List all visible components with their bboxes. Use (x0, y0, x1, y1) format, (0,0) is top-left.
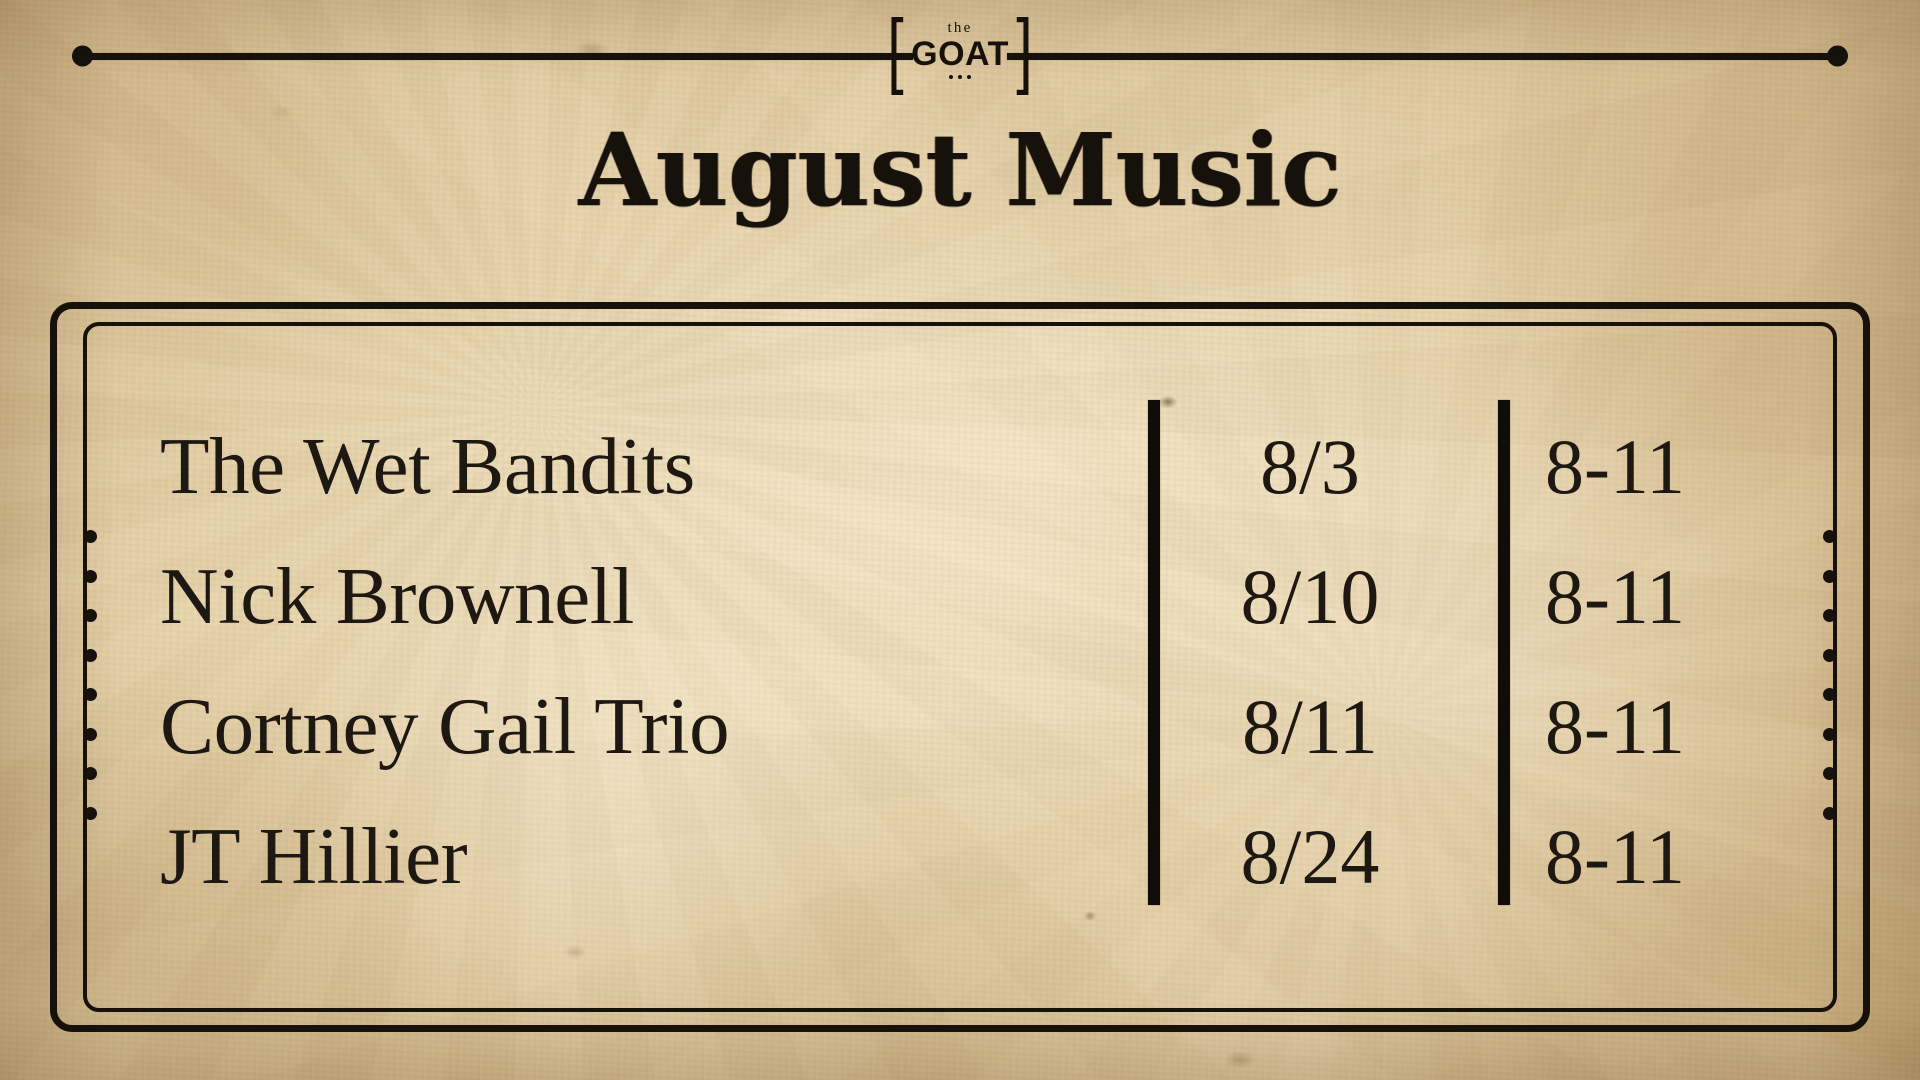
logo-the-goat: [ the GOAT ] (890, 2, 1030, 98)
ornament-dot-icon (1823, 570, 1836, 583)
cell-time: 8-11 (1460, 394, 1770, 506)
cell-artist: Cortney Gail Trio (160, 652, 1160, 767)
logo-core: the GOAT (907, 21, 1013, 78)
logo-the-text: the (948, 21, 973, 36)
ornament-dot-icon (1823, 649, 1836, 662)
page-title: August Music (0, 118, 1920, 223)
cell-artist: JT Hillier (160, 782, 1160, 897)
ornament-dot-icon (1823, 807, 1836, 820)
table-row: The Wet Bandits 8/3 8-11 (160, 392, 1770, 522)
ornament-dot-icon (1823, 530, 1836, 543)
cell-artist: Nick Brownell (160, 522, 1160, 637)
ornament-dot-icon (1823, 767, 1836, 780)
ornament-dot-icon (1823, 728, 1836, 741)
cell-date: 8/11 (1160, 654, 1460, 766)
left-dot-ornament (84, 530, 97, 820)
ornament-dot-icon (84, 807, 97, 820)
bracket-right-icon: ] (1016, 8, 1032, 92)
cell-artist: The Wet Bandits (160, 392, 1160, 507)
ornament-dot-icon (84, 609, 97, 622)
poster-canvas: [ the GOAT ] August Music (0, 0, 1920, 1080)
cell-time: 8-11 (1460, 784, 1770, 896)
logo-dot-icon (967, 75, 971, 79)
logo-wordmark: GOAT (911, 38, 1009, 70)
cell-time: 8-11 (1460, 654, 1770, 766)
logo-dot-icon (949, 75, 953, 79)
cell-date: 8/24 (1160, 784, 1460, 896)
ornament-dot-icon (1823, 609, 1836, 622)
table-row: JT Hillier 8/24 8-11 (160, 782, 1770, 912)
cell-time: 8-11 (1460, 524, 1770, 636)
ornament-dot-icon (84, 688, 97, 701)
table-row: Nick Brownell 8/10 8-11 (160, 522, 1770, 652)
header-rule-left-segment (88, 53, 913, 60)
logo-dots-ornament (949, 75, 971, 79)
header-rule-right-segment (1007, 53, 1832, 60)
table-row: Cortney Gail Trio 8/11 8-11 (160, 652, 1770, 782)
ornament-dot-icon (84, 728, 97, 741)
cell-date: 8/3 (1160, 394, 1460, 506)
bracket-left-icon: [ (888, 8, 904, 92)
ornament-dot-icon (84, 649, 97, 662)
ornament-dot-icon (84, 530, 97, 543)
ornament-dot-icon (1823, 688, 1836, 701)
lineup-table: The Wet Bandits 8/3 8-11 Nick Brownell 8… (160, 392, 1770, 912)
ornament-dot-icon (84, 570, 97, 583)
right-dot-ornament (1823, 530, 1836, 820)
ornament-dot-icon (84, 767, 97, 780)
logo-dot-icon (958, 75, 962, 79)
cell-date: 8/10 (1160, 524, 1460, 636)
